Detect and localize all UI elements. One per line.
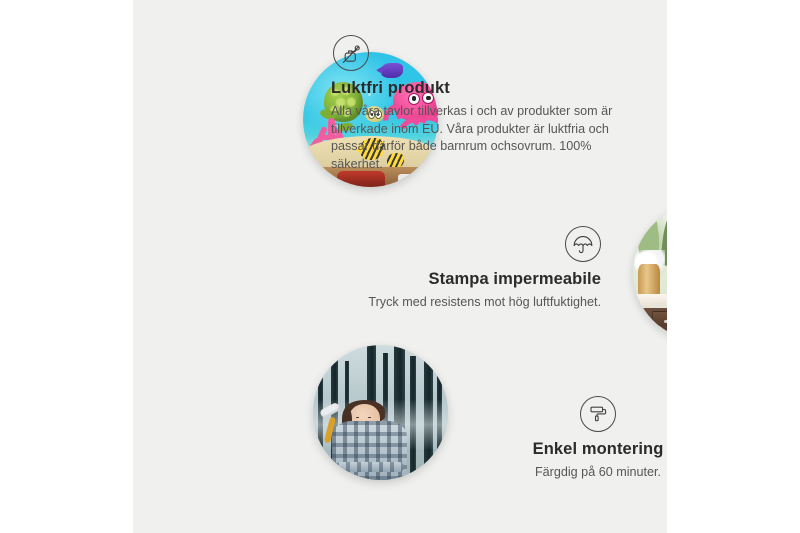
no-fragrance-icon (333, 35, 369, 71)
icon-row-waterproof (213, 226, 601, 262)
person-figure (332, 404, 408, 480)
feature-title: Enkel montering (463, 440, 667, 459)
photo-person-with-roller[interactable] (313, 345, 448, 480)
screenshot-root: Luktfri produkt Alla våra tavlor tillver… (0, 0, 800, 533)
wood-vanity (641, 308, 667, 340)
feature-body: Tryck med resistens mot hög luftfuktighe… (213, 294, 601, 312)
umbrella-icon (565, 226, 601, 262)
feature-odourless: Luktfri produkt Alla våra tavlor tillver… (331, 35, 623, 173)
icon-row-assembly (463, 396, 667, 432)
feature-title: Stampa impermeabile (213, 270, 601, 289)
photo-bathroom-mural[interactable] (633, 205, 667, 340)
feature-assembly: Enkel montering Färgdig på 60 minuter. (463, 396, 667, 482)
content-panel: Luktfri produkt Alla våra tavlor tillver… (133, 0, 667, 533)
feature-title: Luktfri produkt (331, 79, 623, 98)
icon-row-odourless (331, 35, 623, 71)
feature-waterproof: Stampa impermeabile Tryck med resistens … (213, 226, 601, 312)
feature-body: Färgdig på 60 minuter. (463, 464, 667, 482)
feature-body: Alla våra tavlor tillverkas i och av pro… (331, 103, 623, 173)
paint-roller-icon (580, 396, 616, 432)
